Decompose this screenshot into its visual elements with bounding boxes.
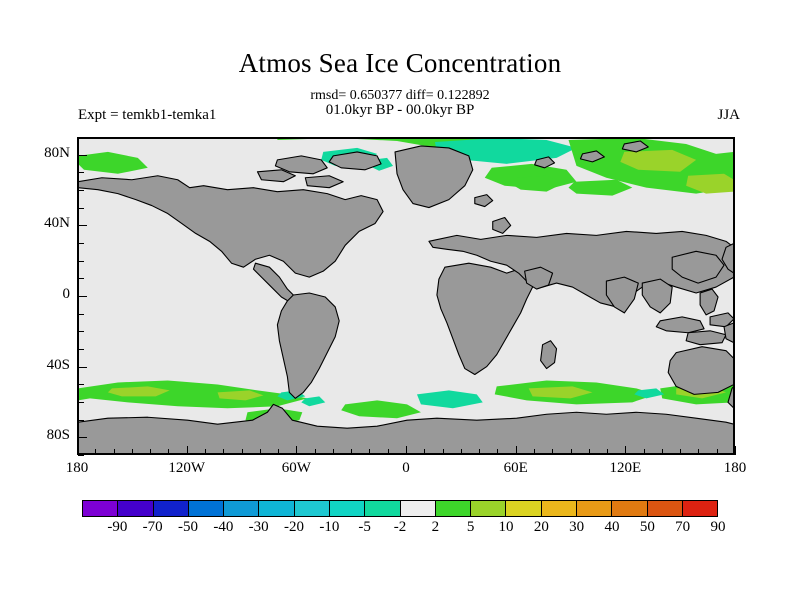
y-axis-tick bbox=[78, 208, 84, 209]
colorbar-cell bbox=[542, 501, 577, 516]
y-axis-label: 40S bbox=[10, 357, 70, 374]
x-axis-tick bbox=[223, 449, 224, 455]
colorbar-cell bbox=[648, 501, 683, 516]
colorbar-cell bbox=[83, 501, 118, 516]
colorbar-cell bbox=[612, 501, 647, 516]
x-axis-tick bbox=[388, 449, 389, 455]
x-axis-label: 60W bbox=[256, 460, 336, 477]
y-axis-tick bbox=[78, 384, 84, 385]
x-axis-tick bbox=[625, 446, 626, 455]
x-axis-tick bbox=[168, 449, 169, 455]
x-axis-tick bbox=[680, 449, 681, 455]
y-axis-label: 40N bbox=[10, 215, 70, 232]
x-axis-tick bbox=[717, 449, 718, 455]
y-axis-tick bbox=[78, 331, 84, 332]
colorbar-cell bbox=[401, 501, 436, 516]
y-axis-tick bbox=[78, 155, 87, 156]
colorbar bbox=[82, 500, 718, 517]
x-axis-label: 180 bbox=[695, 460, 775, 477]
x-axis-tick bbox=[571, 449, 572, 455]
colorbar-cell bbox=[577, 501, 612, 516]
y-axis-tick bbox=[78, 225, 87, 226]
x-axis-tick bbox=[479, 449, 480, 455]
y-axis-tick bbox=[78, 314, 84, 315]
colorbar-cell bbox=[295, 501, 330, 516]
colorbar-tick-labels: -90-70-50-40-30-20-10-5-2251020304050709… bbox=[82, 519, 718, 539]
colorbar-cell bbox=[471, 501, 506, 516]
x-axis-tick bbox=[534, 449, 535, 455]
colorbar-cell bbox=[330, 501, 365, 516]
y-axis-label: 80N bbox=[10, 145, 70, 162]
x-axis-tick bbox=[369, 449, 370, 455]
y-axis-label: 80S bbox=[10, 427, 70, 444]
x-axis-tick bbox=[351, 449, 352, 455]
colorbar-cell bbox=[259, 501, 294, 516]
y-axis-tick bbox=[78, 243, 84, 244]
x-axis-label: 120W bbox=[147, 460, 227, 477]
x-axis-tick bbox=[114, 449, 115, 455]
page-title: Atmos Sea Ice Concentration bbox=[0, 48, 800, 79]
x-axis-tick bbox=[77, 446, 78, 455]
colorbar-cell bbox=[189, 501, 224, 516]
x-axis-tick bbox=[443, 449, 444, 455]
x-axis-tick bbox=[644, 449, 645, 455]
season-label: JJA bbox=[717, 107, 740, 124]
x-axis-tick bbox=[461, 449, 462, 455]
x-axis-tick bbox=[278, 449, 279, 455]
y-axis-tick bbox=[78, 437, 87, 438]
x-axis-tick bbox=[698, 449, 699, 455]
x-axis-tick bbox=[333, 449, 334, 455]
x-axis-tick bbox=[516, 446, 517, 455]
x-axis-tick bbox=[132, 449, 133, 455]
x-axis-label: 60E bbox=[476, 460, 556, 477]
colorbar-cell bbox=[683, 501, 717, 516]
x-axis-tick bbox=[187, 446, 188, 455]
x-axis-tick bbox=[296, 446, 297, 455]
colorbar-cell bbox=[224, 501, 259, 516]
x-axis-label: 120E bbox=[585, 460, 665, 477]
colorbar-cell bbox=[365, 501, 400, 516]
colorbar-cell bbox=[436, 501, 471, 516]
y-axis-tick bbox=[78, 349, 84, 350]
colorbar-cell bbox=[506, 501, 541, 516]
x-axis-tick bbox=[150, 449, 151, 455]
map-plot-area bbox=[77, 137, 735, 455]
x-axis-tick bbox=[497, 449, 498, 455]
y-axis-tick bbox=[78, 172, 84, 173]
y-axis-tick bbox=[78, 190, 84, 191]
experiment-label: Expt = temkb1-temka1 bbox=[78, 107, 216, 124]
colorbar-cell bbox=[154, 501, 189, 516]
y-axis-tick bbox=[78, 455, 84, 456]
x-axis-tick bbox=[242, 449, 243, 455]
y-axis-tick bbox=[78, 261, 84, 262]
world-map bbox=[78, 138, 734, 454]
y-axis-tick bbox=[78, 278, 84, 279]
x-axis-label: 180 bbox=[37, 460, 117, 477]
colorbar-cell bbox=[118, 501, 153, 516]
x-axis-tick bbox=[662, 449, 663, 455]
x-axis-tick bbox=[735, 446, 736, 455]
x-axis-tick bbox=[589, 449, 590, 455]
x-axis-tick bbox=[205, 449, 206, 455]
y-axis-tick bbox=[78, 367, 87, 368]
y-axis-tick bbox=[78, 296, 87, 297]
x-axis-tick bbox=[607, 449, 608, 455]
y-axis-tick bbox=[78, 420, 84, 421]
colorbar-label: 90 bbox=[693, 519, 743, 536]
y-axis-tick bbox=[78, 402, 84, 403]
x-axis-tick bbox=[260, 449, 261, 455]
y-axis-label: 0 bbox=[10, 286, 70, 303]
x-axis-label: 0 bbox=[366, 460, 446, 477]
x-axis-tick bbox=[406, 446, 407, 455]
x-axis-tick bbox=[95, 449, 96, 455]
y-axis-tick bbox=[78, 137, 84, 138]
x-axis-tick bbox=[424, 449, 425, 455]
x-axis-tick bbox=[315, 449, 316, 455]
x-axis-tick bbox=[552, 449, 553, 455]
